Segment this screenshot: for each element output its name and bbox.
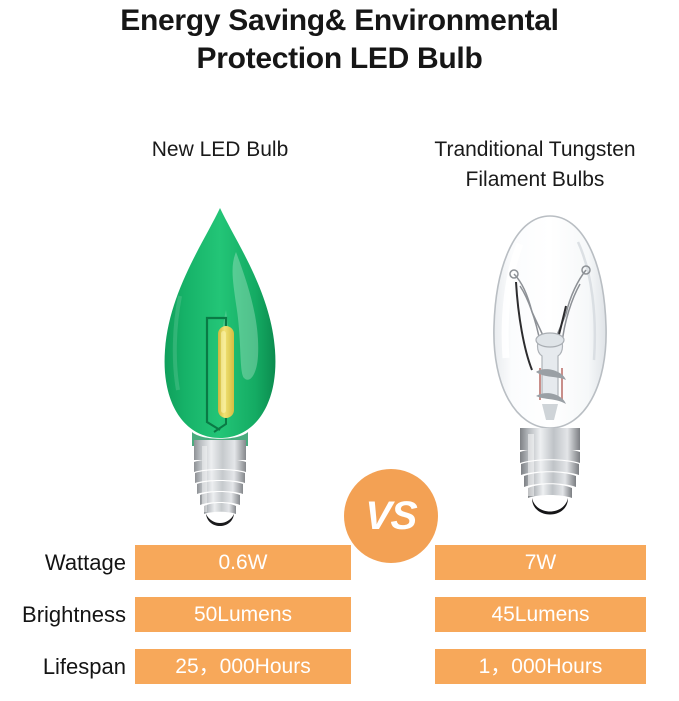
vs-badge-label: VS: [365, 496, 418, 536]
column-heading-tungsten: Tranditional Tungsten Filament Bulbs: [400, 135, 670, 195]
tungsten-stem-press: [536, 333, 564, 347]
spec-label-brightness: Brightness: [0, 597, 126, 632]
tungsten-base-tip: [532, 498, 568, 515]
column-heading-led-line-1: New LED Bulb: [85, 135, 355, 165]
led-base-highlight: [202, 446, 207, 512]
column-heading-led: New LED Bulb: [85, 135, 355, 165]
spec-value-brightness-led: 50Lumens: [135, 597, 351, 632]
spec-label-wattage: Wattage: [0, 545, 126, 580]
clear-incandescent-bulb-icon: [470, 200, 630, 540]
led-base-threads: [194, 459, 246, 514]
spec-label-lifespan: Lifespan: [0, 649, 126, 684]
spec-value-lifespan-tungsten: 1，000Hours: [435, 649, 646, 684]
led-bulb-image: [140, 200, 300, 540]
spec-value-brightness-tungsten: 45Lumens: [435, 597, 646, 632]
led-filament-gloss: [221, 331, 226, 413]
page-title-line-2: Protection LED Bulb: [0, 40, 679, 78]
page-title-line-1: Energy Saving& Environmental: [0, 2, 679, 40]
comparison-stage: VS: [0, 200, 679, 540]
spec-comparison-table: Wattage 0.6W 7W Brightness 50Lumens 45Lu…: [0, 545, 679, 701]
spec-value-lifespan-led: 25，000Hours: [135, 649, 351, 684]
led-base-collar: [194, 440, 246, 460]
table-row: Wattage 0.6W 7W: [0, 545, 679, 580]
tungsten-base-highlight: [528, 434, 534, 496]
led-base-tip: [206, 514, 234, 526]
spec-value-wattage-tungsten: 7W: [435, 545, 646, 580]
table-row: Brightness 50Lumens 45Lumens: [0, 597, 679, 632]
column-heading-tungsten-line-1: Tranditional Tungsten: [400, 135, 670, 165]
green-led-bulb-icon: [140, 200, 300, 540]
spec-value-wattage-led: 0.6W: [135, 545, 351, 580]
column-heading-tungsten-line-2: Filament Bulbs: [400, 165, 670, 195]
page-title: Energy Saving& Environmental Protection …: [0, 2, 679, 78]
table-row: Lifespan 25，000Hours 1，000Hours: [0, 649, 679, 684]
tungsten-bulb-image: [470, 200, 630, 540]
